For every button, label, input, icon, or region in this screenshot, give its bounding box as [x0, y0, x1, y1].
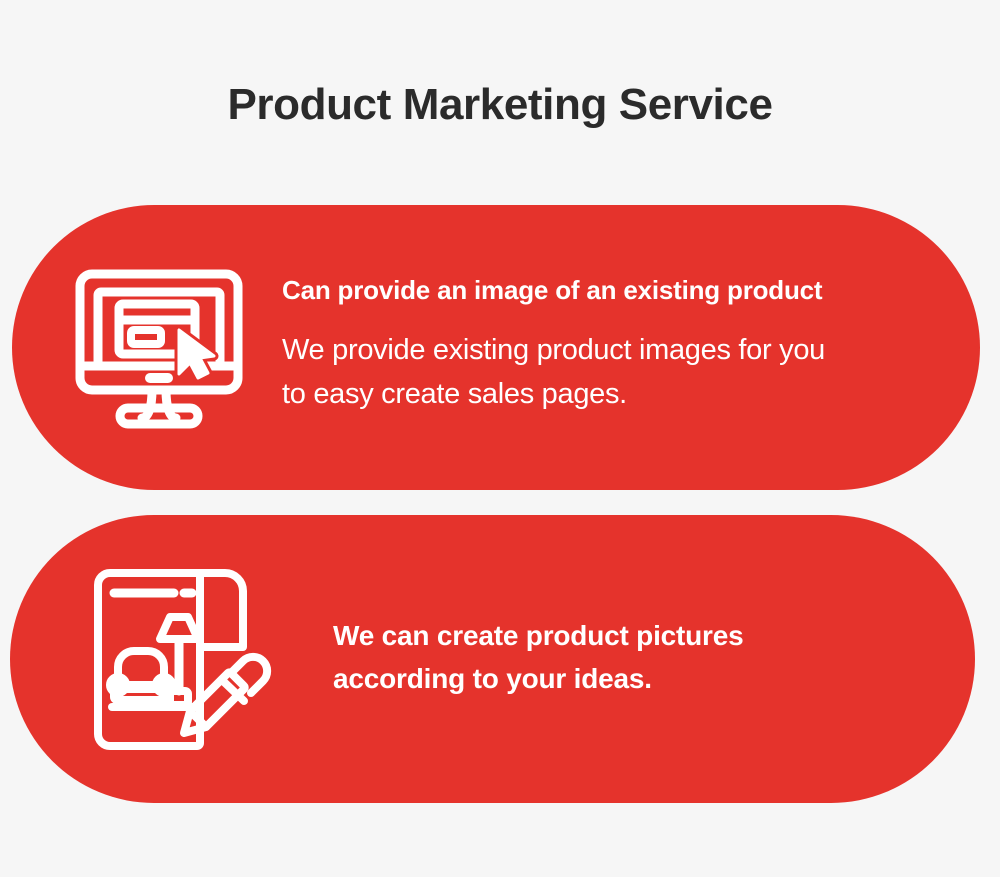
sketch-pencil-icon: [88, 567, 268, 752]
service-card-custom-pictures[interactable]: We can create product pictures according…: [10, 515, 975, 803]
card-2-text: We can create product pictures according…: [268, 614, 975, 704]
card-2-heading-line-1: We can create product pictures: [333, 614, 975, 657]
card-1-body-line-2: to easy create sales pages.: [282, 372, 980, 416]
card-2-heading-line-2: according to your ideas.: [333, 657, 975, 700]
service-card-existing-product[interactable]: Can provide an image of an existing prod…: [12, 205, 980, 490]
infographic-page: Product Marketing Service: [0, 0, 1000, 877]
card-1-body-line-1: We provide existing product images for y…: [282, 328, 980, 372]
card-2-heading: We can create product pictures according…: [333, 614, 975, 700]
page-title: Product Marketing Service: [0, 76, 1000, 134]
monitor-cursor-icon: [74, 268, 244, 428]
card-1-body: We provide existing product images for y…: [282, 328, 980, 416]
card-1-text: Can provide an image of an existing prod…: [244, 274, 980, 422]
card-1-heading: Can provide an image of an existing prod…: [282, 274, 980, 306]
